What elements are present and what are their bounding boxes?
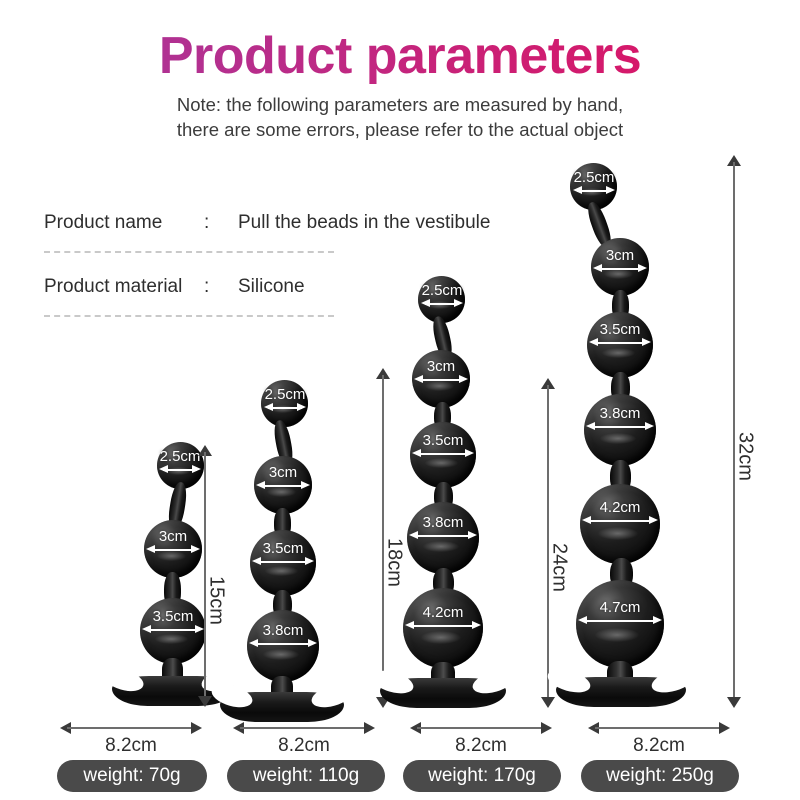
product-variant-15cm: 2.5cm 3cm 3.5cm [60,430,240,720]
bead-4 [584,394,656,466]
height-dimension-18cm: 18cm [376,368,390,708]
weight-badge-24cm: weight: 170g [403,760,561,792]
info-divider-2 [44,315,334,318]
base-width-label-32cm: 8.2cm [588,735,730,757]
bead-6 [576,580,664,668]
product-name-label: Product name [44,212,204,234]
bead-2 [254,456,312,514]
product-parameters-page: Product parameters Note: the following p… [0,0,800,800]
bead-5 [403,588,483,668]
height-dimension-24cm: 24cm [541,378,555,708]
width-dimension-32cm [588,722,730,734]
height-label-32cm: 32cm [734,432,757,481]
width-dimension-24cm [410,722,552,734]
width-dimension-18cm [233,722,375,734]
base-width-label-15cm: 8.2cm [60,735,202,757]
product-material-colon: : [204,276,238,298]
note-line-1: Note: the following parameters are measu… [0,92,800,117]
base-width-label-18cm: 8.2cm [233,735,375,757]
bead-4 [407,502,479,574]
weight-badge-32cm: weight: 250g [581,760,739,792]
bead-1 [418,276,465,323]
base-width-label-24cm: 8.2cm [410,735,552,757]
product-name-colon: : [204,212,238,234]
anchor-base [220,692,344,722]
bead-3 [587,312,653,378]
product-name-value: Pull the beads in the vestibule [238,212,524,234]
height-dimension-32cm: 32cm [727,155,741,708]
height-label-15cm: 15cm [205,576,228,625]
product-material-label: Product material [44,276,204,298]
anchor-base [380,678,506,708]
bead-2 [412,350,470,408]
page-note: Note: the following parameters are measu… [0,92,800,142]
bead-2 [591,238,649,296]
bead-3 [250,530,316,596]
bead-3 [410,422,476,488]
bead-2 [144,520,202,578]
width-dimension-15cm [60,722,202,734]
weight-badge-15cm: weight: 70g [57,760,207,792]
bead-5 [580,484,660,564]
anchor-base [556,677,686,707]
bead-1 [261,380,308,427]
weight-badge-18cm: weight: 110g [227,760,385,792]
note-line-2: there are some errors, please refer to t… [0,117,800,142]
page-title: Product parameters [0,26,800,86]
bead-3 [140,598,206,664]
height-dimension-15cm: 15cm [198,445,212,707]
bead-4 [247,610,319,682]
product-name-row: Product name : Pull the beads in the ves… [44,212,524,242]
